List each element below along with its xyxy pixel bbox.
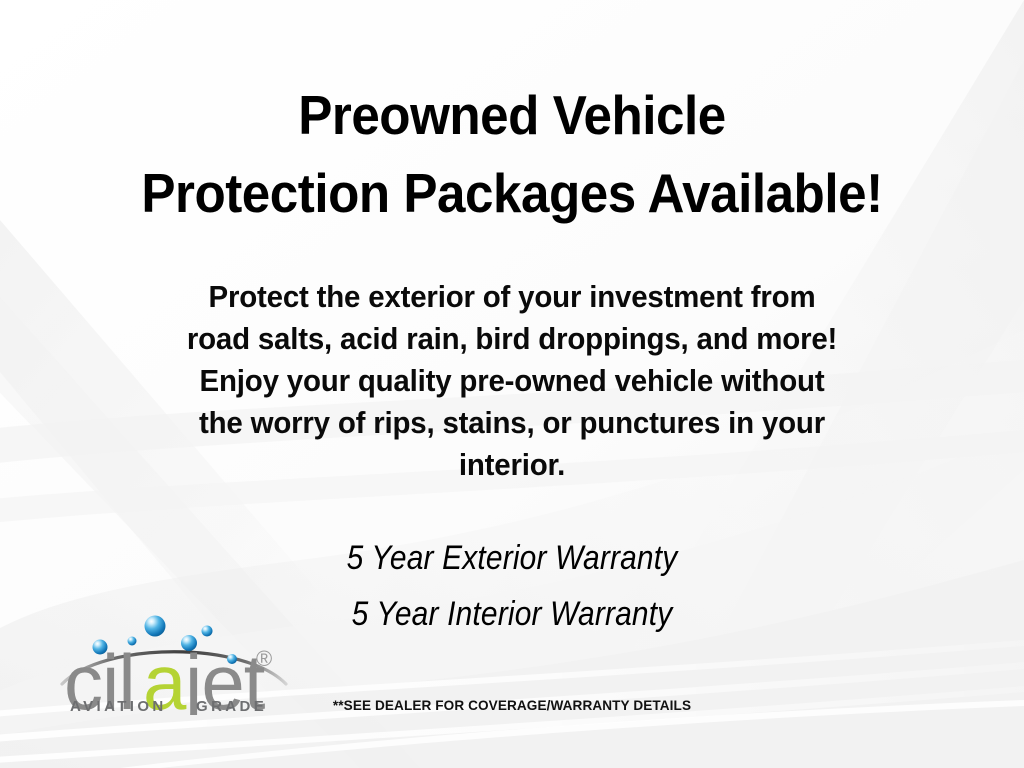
warranty-exterior: 5 Year Exterior Warranty [61,530,962,586]
headline-line-2: Protection Packages Available! [36,154,988,232]
body-line-4: the worry of rips, stains, or punctures … [26,402,999,444]
body-line-3: Enjoy your quality pre-owned vehicle wit… [26,360,999,402]
logo-trademark-icon: ® [256,646,272,671]
body-line-1: Protect the exterior of your investment … [26,276,999,318]
cilajet-logo: cil a jet ® AVIATION GRADE [58,583,290,715]
slide-canvas: Preowned Vehicle Protection Packages Ava… [0,0,1024,768]
headline-line-1: Preowned Vehicle [36,76,988,154]
body-line-2: road salts, acid rain, bird droppings, a… [26,318,999,360]
logo-tagline-aviation: AVIATION [70,698,167,715]
body-line-5: interior. [26,444,999,486]
body-copy: Protect the exterior of your investment … [26,276,999,486]
headline: Preowned Vehicle Protection Packages Ava… [36,76,988,232]
logo-tagline-grade: GRADE [196,698,267,715]
logo-tagline: AVIATION GRADE [58,691,290,715]
